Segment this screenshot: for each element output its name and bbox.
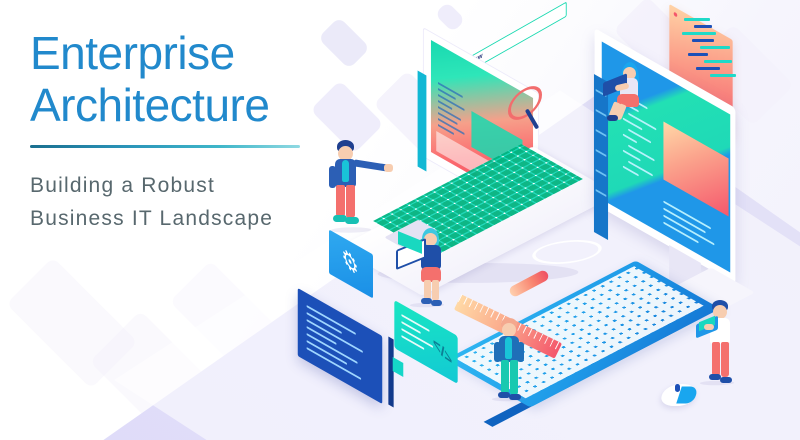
leg-right	[721, 342, 729, 377]
code-line	[692, 39, 714, 42]
shoe-right	[720, 377, 732, 383]
leg-left	[336, 185, 345, 217]
code-glyph-icon: </>	[433, 333, 452, 371]
background-diamond	[434, 1, 465, 32]
arm-left	[494, 342, 501, 362]
doc-line	[307, 333, 358, 364]
person-shadow	[329, 227, 374, 232]
person-man-with-ruler	[492, 318, 528, 400]
laptop-screen-sidebar	[418, 71, 427, 172]
hand	[384, 164, 393, 172]
document-card-edge	[388, 337, 393, 408]
code-line	[700, 46, 730, 49]
title-divider	[30, 145, 300, 148]
bubble-line	[401, 335, 424, 350]
leg-left	[501, 360, 509, 394]
code-line	[688, 53, 708, 56]
arm-right	[517, 342, 524, 362]
hero-text-block: Enterprise Architecture Building a Robus…	[30, 28, 360, 235]
sidebar-line	[596, 129, 607, 137]
leg-right	[346, 185, 355, 218]
sidebar-line	[596, 169, 607, 177]
doc-line	[307, 319, 363, 353]
banner-hero: Enterprise Architecture Building a Robus…	[0, 0, 800, 440]
shirt	[342, 160, 349, 182]
page-title: Enterprise Architecture	[30, 28, 360, 131]
card-dot-icon	[674, 12, 678, 18]
sidebar-line	[596, 189, 607, 197]
gear-icon: ⚙	[341, 242, 358, 283]
person-woman-sitting	[603, 62, 649, 122]
code-line	[682, 32, 716, 35]
magnifier-ring	[508, 80, 542, 126]
screen-code-line	[628, 145, 654, 162]
magnifier-icon	[508, 86, 554, 132]
leg-right	[510, 360, 518, 395]
page-subtitle: Building a Robust Business IT Landscape	[30, 170, 360, 235]
shirt-panel	[505, 337, 512, 359]
screen-code-line	[623, 134, 637, 144]
mouse-wheel	[675, 384, 680, 392]
leg-left	[424, 280, 431, 300]
shoe-right	[509, 394, 521, 400]
person-with-tablet	[700, 300, 740, 384]
shoe-right	[431, 300, 442, 306]
computer-mouse	[662, 382, 696, 408]
sidebar-line	[596, 149, 607, 157]
leg-right	[432, 280, 439, 301]
arm-left	[329, 166, 336, 188]
screen-code-line	[628, 161, 653, 177]
shoe-right	[345, 217, 359, 224]
code-line	[684, 18, 710, 21]
screen-code-line	[628, 129, 651, 144]
person-man-pointing	[325, 140, 391, 232]
code-line	[694, 25, 712, 28]
leg-left	[712, 342, 720, 376]
arm	[704, 324, 714, 330]
head	[502, 323, 516, 337]
shoe	[607, 115, 618, 121]
person-woman-with-laptop	[408, 228, 452, 306]
